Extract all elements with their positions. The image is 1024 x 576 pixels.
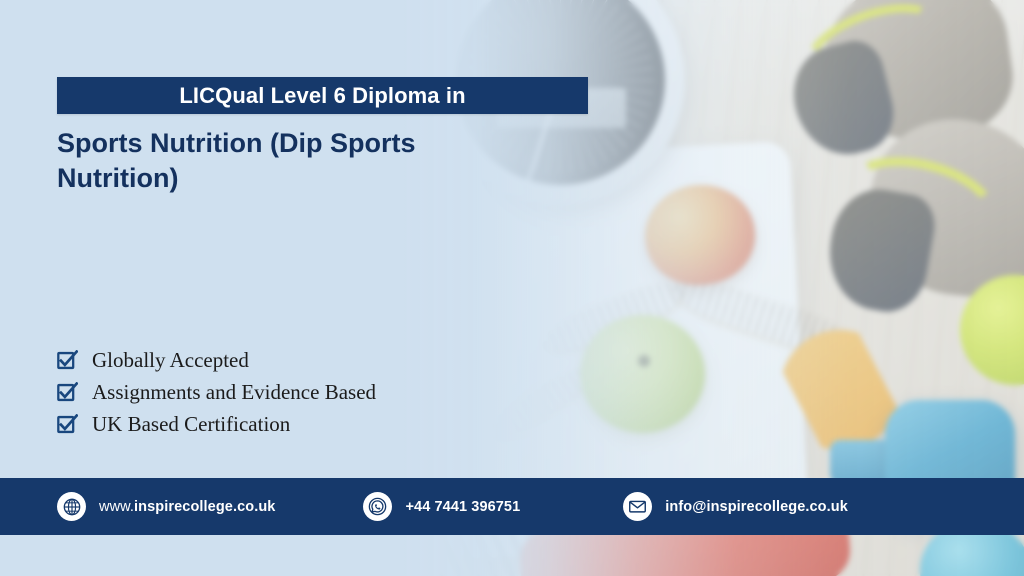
checkbox-checked-icon (57, 382, 78, 403)
globe-icon (57, 492, 86, 521)
list-item: Assignments and Evidence Based (57, 382, 376, 403)
email-text: info@inspirecollege.co.uk (665, 499, 848, 515)
feature-label: Globally Accepted (92, 350, 249, 371)
course-title-banner: LICQual Level 6 Diploma in (57, 77, 588, 114)
envelope-icon (623, 492, 652, 521)
feature-label: Assignments and Evidence Based (92, 382, 376, 403)
feature-label: UK Based Certification (92, 414, 290, 435)
website-domain: inspirecollege.co.uk (134, 499, 275, 515)
list-item: UK Based Certification (57, 414, 376, 435)
contact-email[interactable]: info@inspirecollege.co.uk (623, 492, 848, 521)
feature-list: Globally Accepted Assignments and Eviden… (57, 350, 376, 435)
website-prefix: www. (99, 499, 134, 515)
promo-banner: LICQual Level 6 Diploma in Sports Nutrit… (0, 0, 1024, 576)
contact-footer-bar: www.inspirecollege.co.uk +44 7441 396751 (0, 478, 1024, 535)
checkbox-checked-icon (57, 414, 78, 435)
website-text: www.inspirecollege.co.uk (99, 499, 275, 515)
phone-text: +44 7441 396751 (405, 499, 520, 515)
whatsapp-icon (363, 492, 392, 521)
course-title-line-2: Sports Nutrition (Dip Sports Nutrition) (57, 126, 497, 195)
contact-website[interactable]: www.inspirecollege.co.uk (57, 492, 275, 521)
checkbox-checked-icon (57, 350, 78, 371)
list-item: Globally Accepted (57, 350, 376, 371)
contact-phone[interactable]: +44 7441 396751 (363, 492, 520, 521)
course-title-line-1: LICQual Level 6 Diploma in (179, 83, 465, 109)
